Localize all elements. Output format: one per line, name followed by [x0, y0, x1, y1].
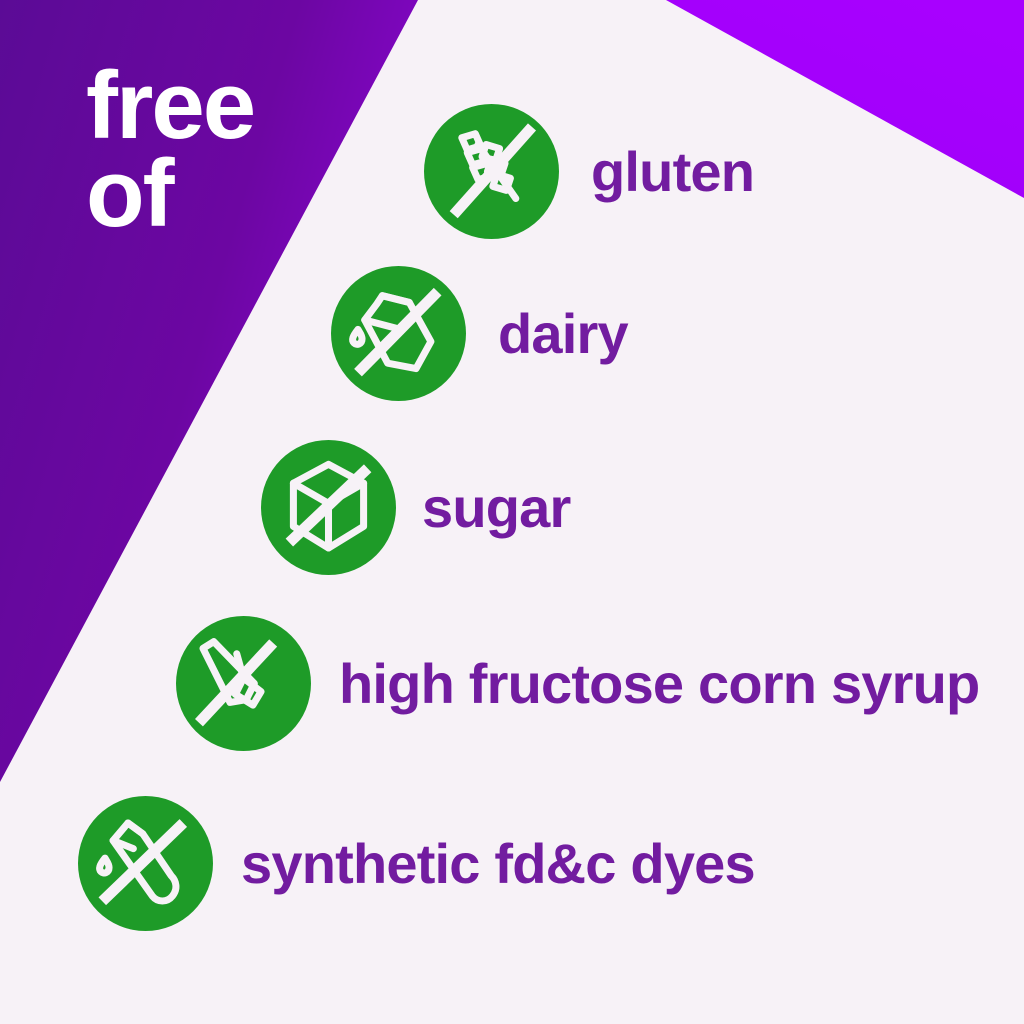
- list-item-label: synthetic fd&c dyes: [241, 831, 755, 896]
- free-of-infographic: free of gluten: [0, 0, 1024, 1024]
- no-gluten-wheat-icon: [424, 104, 559, 239]
- list-item: high fructose corn syrup: [176, 616, 979, 751]
- list-item: gluten: [424, 104, 754, 239]
- list-item: synthetic fd&c dyes: [78, 796, 755, 931]
- list-item: sugar: [261, 440, 571, 575]
- no-dairy-milk-carton-icon: [331, 266, 466, 401]
- list-item-label: high fructose corn syrup: [339, 651, 979, 716]
- list-item-label: sugar: [422, 475, 571, 540]
- list-item: dairy: [331, 266, 628, 401]
- headline-line-1: free: [86, 62, 386, 150]
- no-sugar-cube-icon: [261, 440, 396, 575]
- list-item-label: gluten: [591, 139, 754, 204]
- headline: free of: [86, 62, 386, 239]
- no-corn-cob-icon: [176, 616, 311, 751]
- no-test-tube-icon: [78, 796, 213, 931]
- headline-line-2: of: [86, 150, 386, 238]
- list-item-label: dairy: [498, 301, 628, 366]
